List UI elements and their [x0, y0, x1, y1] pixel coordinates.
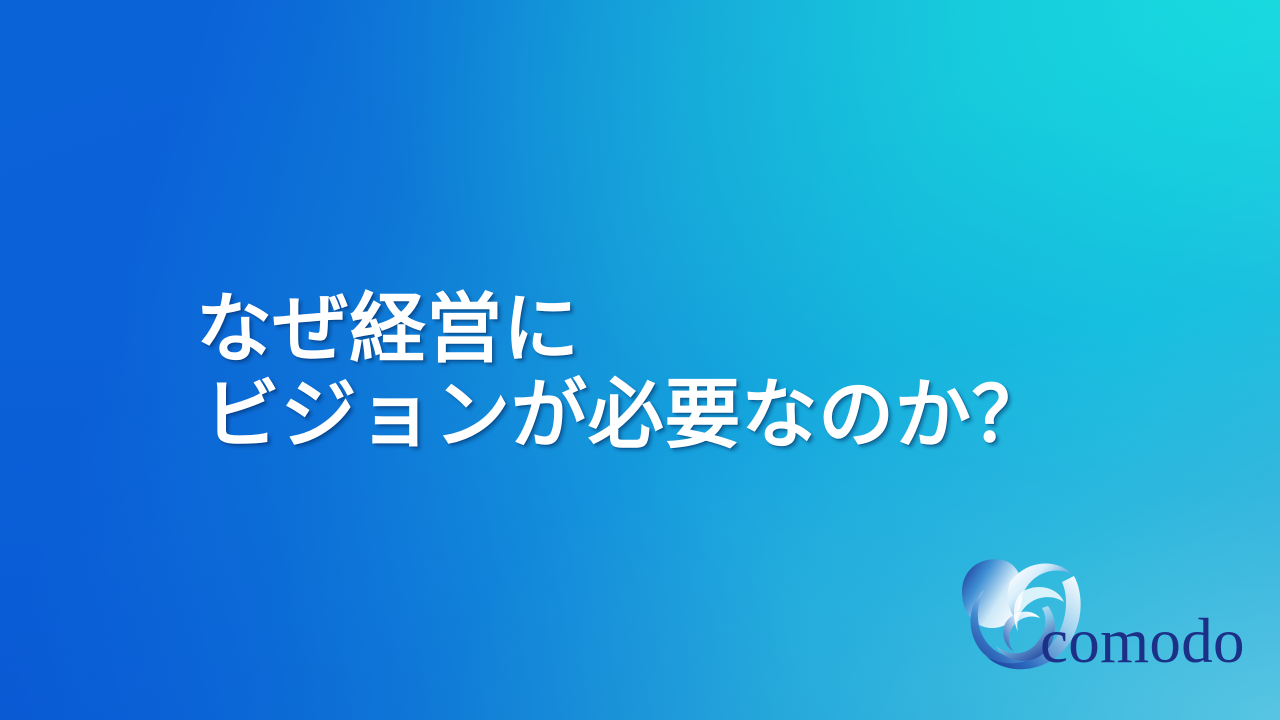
headline-line-1: なぜ経営に: [196, 286, 1136, 372]
comodo-logo: comodo: [952, 552, 1252, 702]
headline-line-2: ビジョンが必要なのか？: [196, 372, 1136, 458]
presentation-slide: なぜ経営に ビジョンが必要なのか？: [0, 0, 1280, 720]
slide-headline: なぜ経営に ビジョンが必要なのか？: [196, 286, 1136, 458]
comodo-wordmark: comodo: [1040, 610, 1245, 673]
